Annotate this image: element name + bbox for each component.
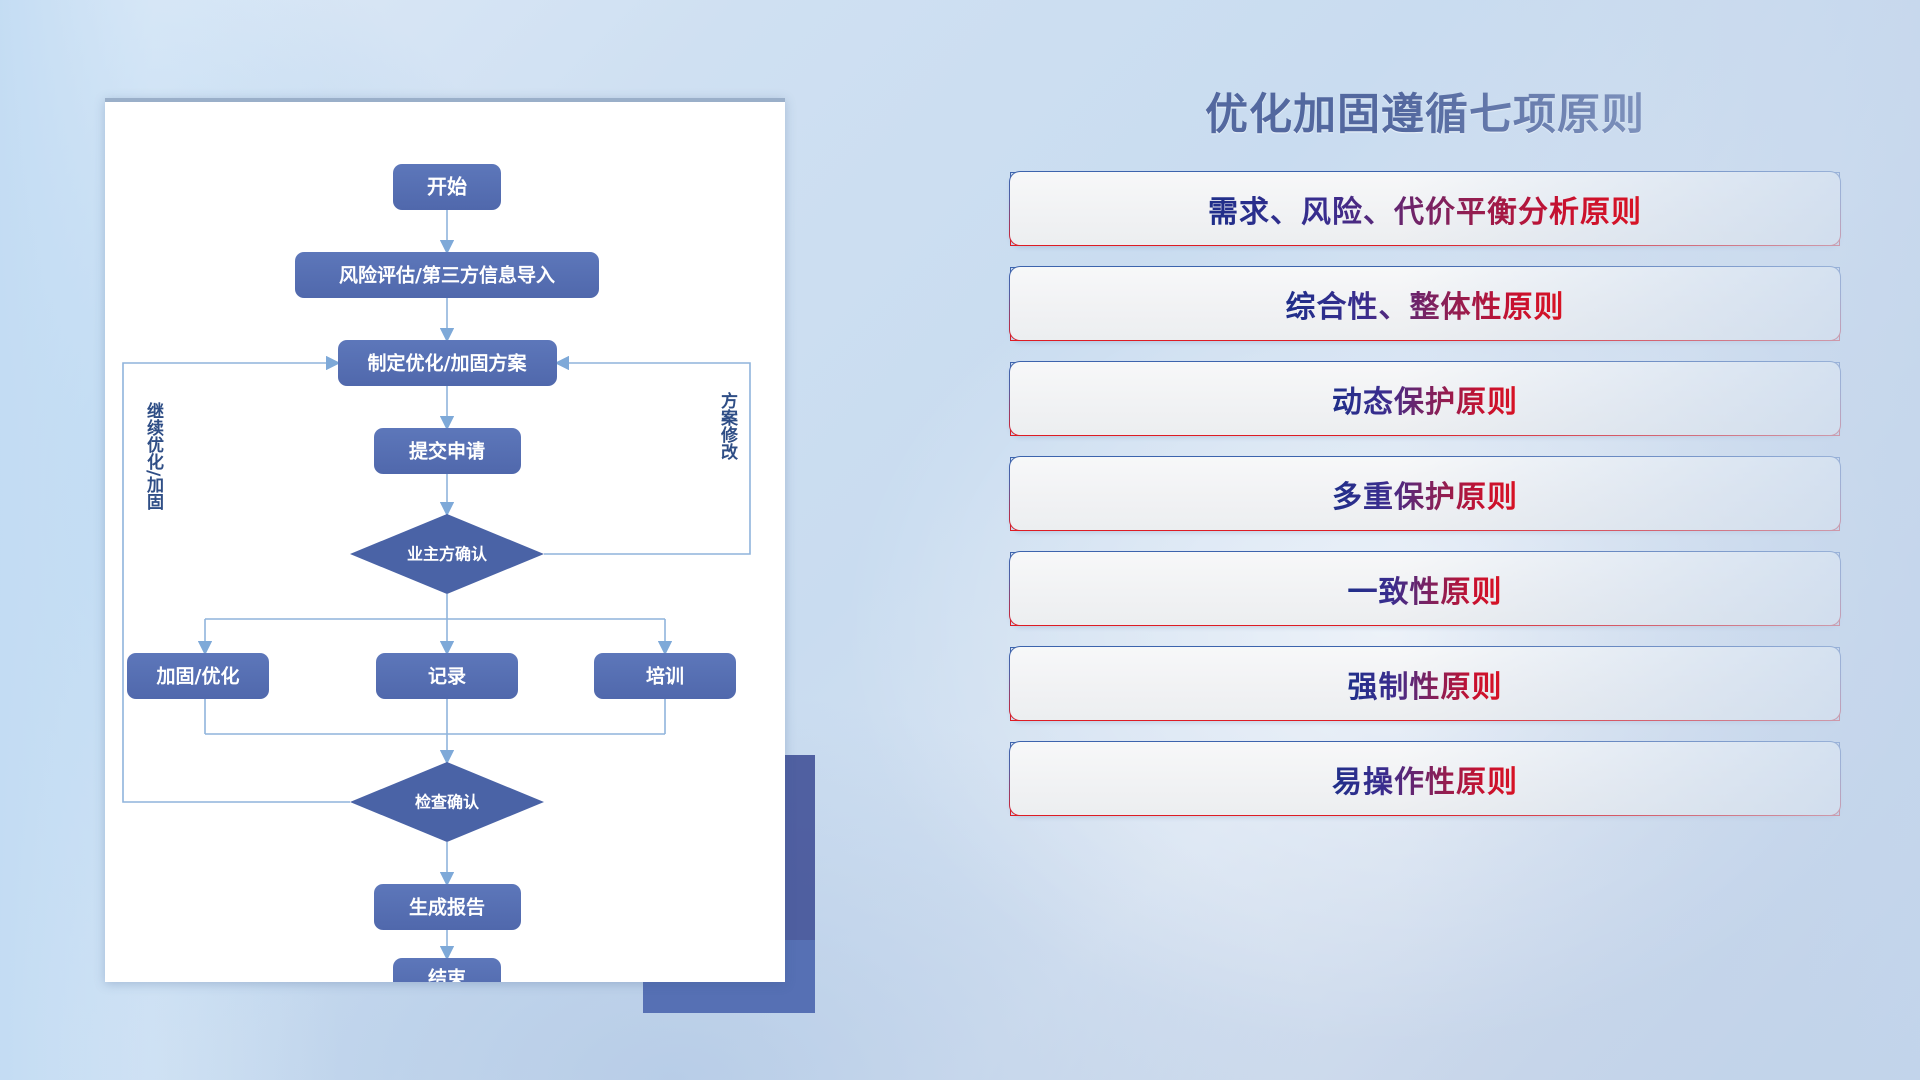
flow-node-report[interactable]: 生成报告	[374, 884, 521, 930]
principle-card[interactable]: 动态保护原则	[1010, 362, 1840, 436]
flow-node-submit[interactable]: 提交申请	[374, 428, 521, 474]
flow-node-risk[interactable]: 风险评估/第三方信息导入	[295, 252, 599, 298]
flow-node-risk-label: 风险评估/第三方信息导入	[339, 264, 555, 287]
flow-node-owner-confirm-label: 业主方确认	[407, 545, 488, 564]
principle-card[interactable]: 需求、风险、代价平衡分析原则	[1010, 172, 1840, 246]
principles-panel: 优化加固遵循七项原则 需求、风险、代价平衡分析原则 综合性、整体性原则 动态保护…	[1010, 90, 1840, 1010]
flow-node-training[interactable]: 培训	[594, 653, 736, 699]
principle-label: 强制性原则	[1348, 662, 1503, 706]
principle-label: 综合性、整体性原则	[1286, 282, 1565, 326]
principles-list: 需求、风险、代价平衡分析原则 综合性、整体性原则 动态保护原则 多重保护原则 一…	[1010, 172, 1840, 816]
flow-edge-label-left: 继续优化/加固	[143, 401, 165, 511]
principle-card[interactable]: 多重保护原则	[1010, 457, 1840, 531]
flow-node-record[interactable]: 记录	[376, 653, 518, 699]
flowchart-card: 开始 风险评估/第三方信息导入 制定优化/加固方案 提交申请 业主方确认	[105, 98, 785, 982]
flow-node-end-label: 结束	[428, 967, 467, 983]
flow-node-owner-confirm[interactable]: 业主方确认	[350, 514, 544, 594]
panel-title: 优化加固遵循七项原则	[1010, 90, 1840, 142]
flow-node-record-label: 记录	[428, 666, 466, 688]
flow-node-check[interactable]: 检查确认	[350, 762, 544, 842]
principle-label: 动态保护原则	[1332, 377, 1518, 421]
flow-node-plan[interactable]: 制定优化/加固方案	[338, 340, 557, 386]
principle-card[interactable]: 一致性原则	[1010, 552, 1840, 626]
flow-node-training-label: 培训	[646, 665, 684, 688]
flow-node-end[interactable]: 结束	[393, 958, 501, 982]
slide-canvas: 开始 风险评估/第三方信息导入 制定优化/加固方案 提交申请 业主方确认	[0, 0, 1920, 1080]
principle-label: 易操作性原则	[1332, 757, 1518, 801]
principle-card[interactable]: 综合性、整体性原则	[1010, 267, 1840, 341]
principle-card[interactable]: 强制性原则	[1010, 647, 1840, 721]
flow-node-start-label: 开始	[427, 175, 467, 199]
principle-label: 多重保护原则	[1332, 472, 1518, 516]
flow-node-reinforce-label: 加固/优化	[156, 665, 240, 688]
flow-node-report-label: 生成报告	[409, 896, 485, 919]
flow-node-start[interactable]: 开始	[393, 164, 501, 210]
flow-node-reinforce[interactable]: 加固/优化	[127, 653, 269, 699]
principle-label: 一致性原则	[1348, 567, 1503, 611]
flow-node-submit-label: 提交申请	[409, 440, 485, 463]
flowchart-diagram: 开始 风险评估/第三方信息导入 制定优化/加固方案 提交申请 业主方确认	[105, 102, 785, 982]
flow-edge-label-right: 方案修改	[717, 391, 739, 461]
flow-node-plan-label: 制定优化/加固方案	[368, 352, 528, 375]
principle-label: 需求、风险、代价平衡分析原则	[1208, 187, 1642, 231]
flow-node-check-label: 检查确认	[415, 793, 480, 812]
principle-card[interactable]: 易操作性原则	[1010, 742, 1840, 816]
